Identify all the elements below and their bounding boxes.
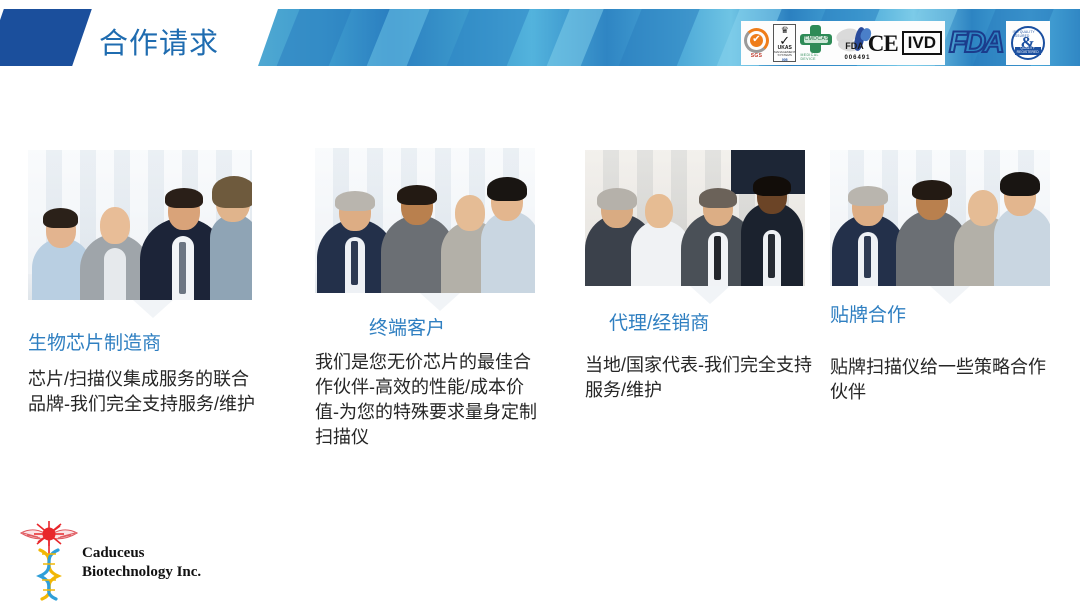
column-2-heading: 终端客户 — [369, 313, 565, 340]
ce-mark-badge-icon: CE — [868, 32, 898, 55]
column-4-body: 贴牌扫描仪给一些策略合作伙伴 — [830, 355, 1056, 405]
column-3-body: 当地/国家代表-我们完全支持服务/维护 — [585, 353, 815, 403]
sgs-label: SGS — [751, 54, 762, 59]
seal-top-text: ISO QUALITY ASSURED — [1013, 30, 1043, 38]
business-meeting-photo-4 — [830, 150, 1050, 286]
seal-bottom-text: QUALITY REGISTERED — [1015, 47, 1041, 55]
seal-bottom-line2: REGISTERED — [1017, 51, 1039, 55]
logo-company-name: Caduceus Biotechnology Inc. — [82, 544, 201, 582]
banner-stripe — [613, 9, 704, 66]
photo-tail-3 — [690, 286, 730, 304]
column-3-heading: 代理/经销商 — [609, 308, 835, 335]
business-meeting-photo-2 — [315, 148, 535, 293]
ivd-badge-icon: IVD — [902, 31, 942, 55]
sgs-badge-icon: ✔ SGS — [744, 28, 769, 59]
cmdcas-label: CMDCAS — [804, 36, 828, 43]
photo-frame-2 — [315, 148, 565, 293]
ukas-sublabel: MANAGEMENT SYSTEMS — [774, 51, 795, 58]
partner-column-4: 贴牌合作 贴牌扫描仪给一些策略合作伙伴 — [830, 150, 1070, 405]
photo-tail-1 — [133, 300, 173, 318]
cmdcas-sublabel: MEDICAL DEVICE — [800, 54, 832, 61]
fda-butterfly-badge-icon: FDA 006491 — [836, 27, 863, 59]
partner-column-2: 终端客户 我们是您无价芯片的最佳合作伙伴-高效的性能/成本价值-为您的特殊要求量… — [315, 148, 565, 450]
page-title: 合作请求 — [99, 20, 219, 62]
header-accent-parallelogram — [0, 9, 92, 66]
photo-tail-2 — [420, 293, 460, 311]
business-handshake-photo-3 — [585, 150, 805, 286]
fda-outline-badge-icon: FDA — [945, 21, 1006, 65]
certification-badge-strip: ✔ SGS ♛ ✓ UKAS MANAGEMENT SYSTEMS 005 CM… — [741, 21, 1050, 65]
banner-stripe — [541, 9, 608, 66]
photo-frame-3 — [585, 150, 835, 286]
banner-stripe — [271, 9, 356, 66]
cmdcas-badge-icon: CMDCAS MEDICAL DEVICE — [800, 25, 832, 61]
fda-butterfly-label: FDA — [845, 42, 864, 51]
caduceus-dna-logo-icon — [18, 520, 80, 602]
company-logo: Caduceus Biotechnology Inc. — [10, 518, 210, 603]
banner-stripe — [361, 9, 434, 66]
ukas-badge-icon: ♛ ✓ UKAS MANAGEMENT SYSTEMS 005 — [773, 24, 796, 62]
column-2-body: 我们是您无价芯片的最佳合作伙伴-高效的性能/成本价值-为您的特殊要求量身定制扫描… — [315, 350, 541, 450]
column-1-heading: 生物芯片制造商 — [28, 328, 278, 355]
photo-tail-4 — [930, 286, 970, 304]
logo-line-1: Caduceus — [82, 544, 201, 563]
partner-column-3: 代理/经销商 当地/国家代表-我们完全支持服务/维护 — [585, 150, 835, 403]
photo-frame-1 — [28, 150, 278, 300]
photo-frame-4 — [830, 150, 1070, 286]
business-meeting-photo-1 — [28, 150, 252, 300]
fda-registration-number: 006491 — [844, 55, 870, 61]
column-1-body: 芯片/扫描仪集成服务的联合品牌-我们完全支持服务/维护 — [28, 367, 258, 417]
column-4-heading: 贴牌合作 — [830, 300, 1070, 327]
banner-stripe — [441, 9, 534, 66]
certification-group-right: ISO QUALITY ASSURED & QUALITY REGISTERED — [1006, 21, 1050, 65]
partner-column-1: 生物芯片制造商 芯片/扫描仪集成服务的联合品牌-我们完全支持服务/维护 — [28, 150, 278, 417]
ukas-number: 005 — [782, 59, 788, 62]
logo-line-2: Biotechnology Inc. — [82, 563, 201, 582]
iso-quality-seal-badge-icon: ISO QUALITY ASSURED & QUALITY REGISTERED — [1011, 26, 1045, 60]
certification-group-left: ✔ SGS ♛ ✓ UKAS MANAGEMENT SYSTEMS 005 CM… — [741, 21, 945, 65]
